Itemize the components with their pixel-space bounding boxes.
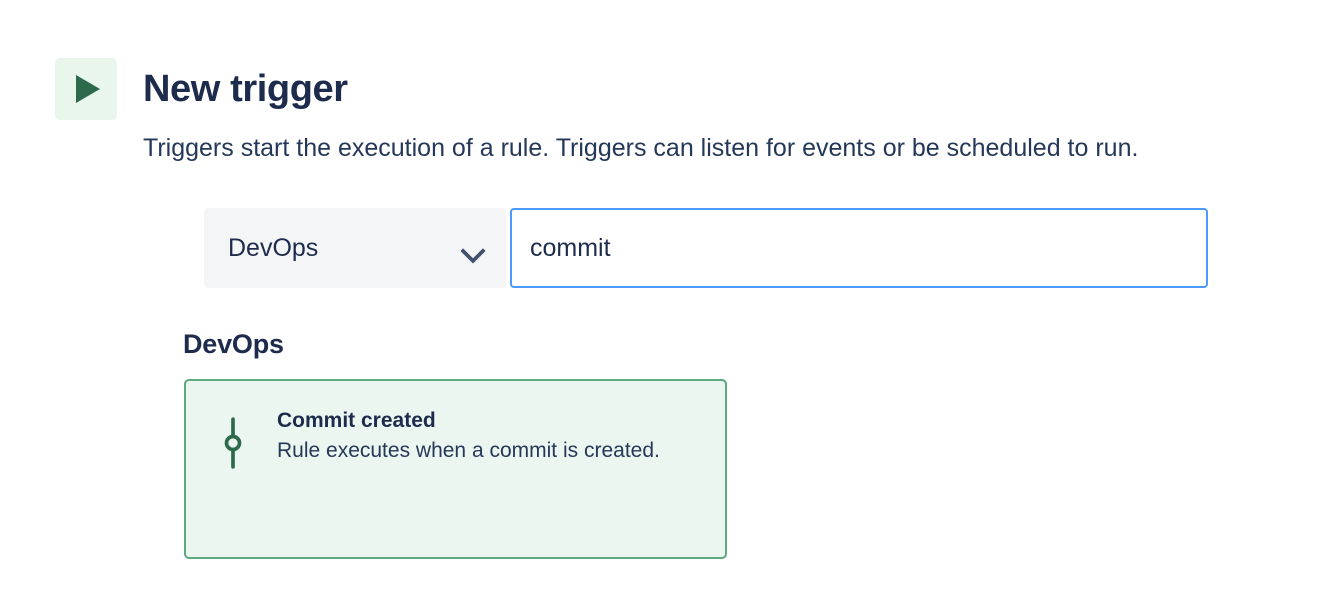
trigger-icon-box	[55, 58, 117, 120]
category-select[interactable]: DevOps	[204, 208, 506, 288]
category-select-value: DevOps	[228, 234, 318, 263]
search-input[interactable]	[510, 208, 1208, 288]
result-text-block: Commit created Rule executes when a comm…	[277, 408, 660, 466]
result-title: Commit created	[277, 408, 660, 434]
result-description: Rule executes when a commit is created.	[277, 437, 660, 465]
trigger-result-card[interactable]: Commit created Rule executes when a comm…	[184, 379, 727, 559]
trigger-search-row: DevOps	[204, 208, 1208, 288]
results-group-title: DevOps	[183, 331, 284, 358]
git-commit-icon	[220, 417, 246, 469]
play-triangle-icon	[76, 75, 100, 103]
page-header: New trigger	[55, 45, 348, 134]
page-description: Triggers start the execution of a rule. …	[143, 132, 1138, 165]
page-title: New trigger	[143, 70, 348, 108]
chevron-down-icon	[462, 242, 484, 255]
